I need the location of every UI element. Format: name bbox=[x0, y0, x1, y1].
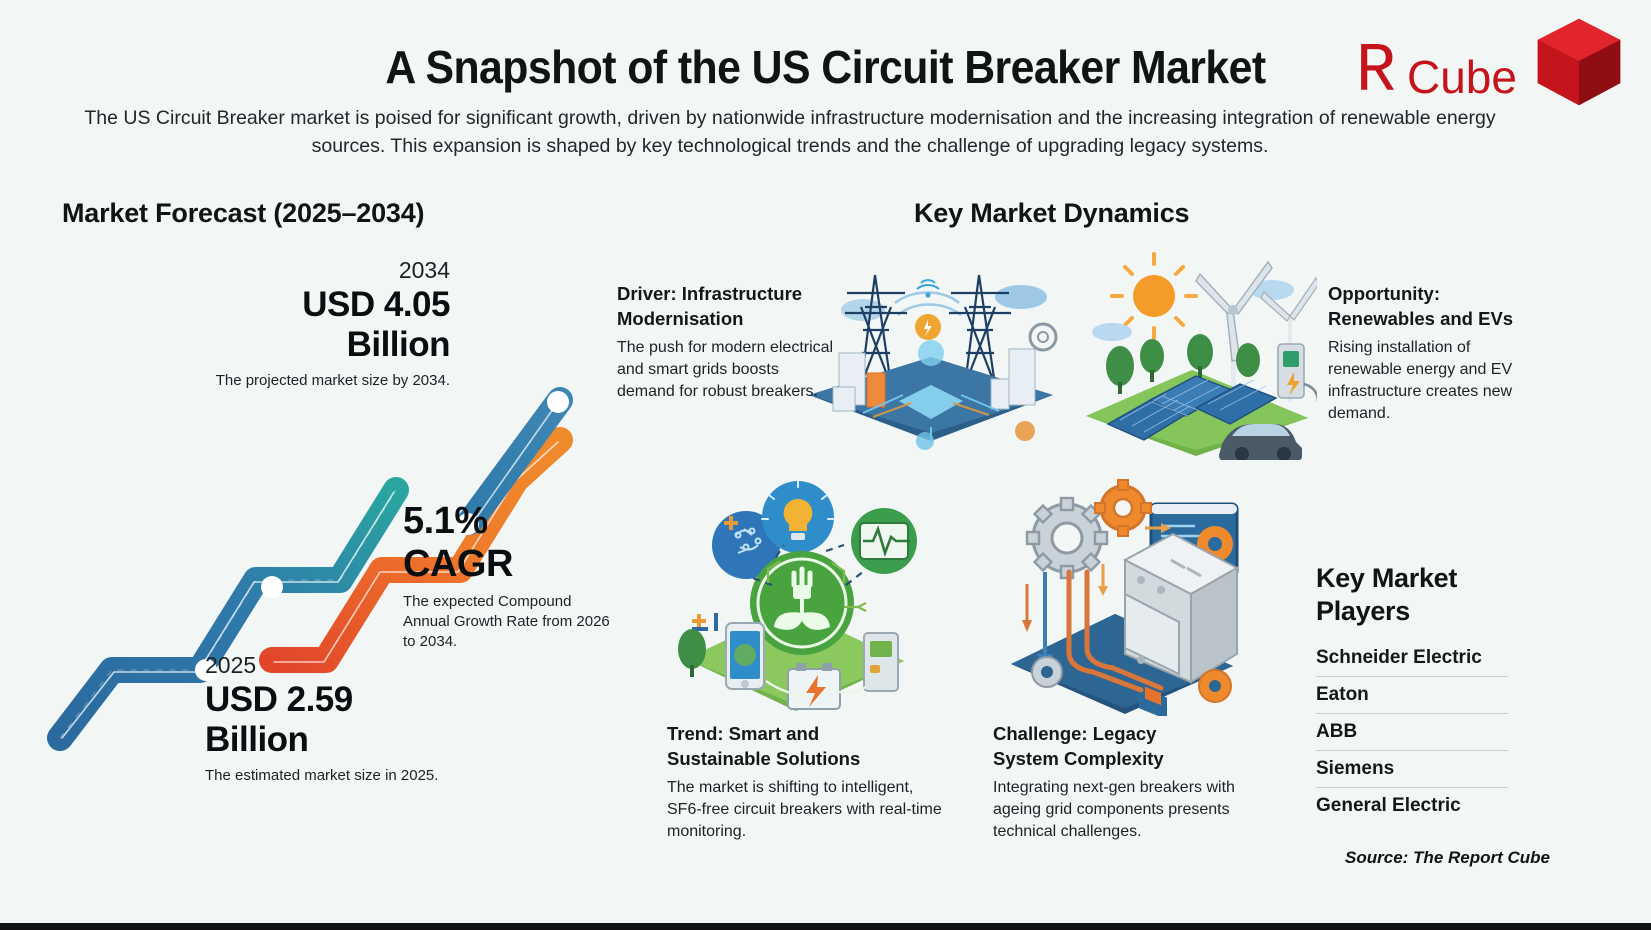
chart-node-mid-1 bbox=[261, 576, 283, 598]
players-heading-line2: Players bbox=[1316, 595, 1516, 628]
chart-node-2034 bbox=[547, 391, 569, 413]
dynamic-trend-title-line2: Sustainable Solutions bbox=[667, 746, 952, 771]
dynamic-trend-body: The market is shifting to intelligent, S… bbox=[667, 777, 952, 843]
stat-cagr: 5.1% CAGR The expected Compound Annual G… bbox=[403, 500, 613, 652]
list-item: ABB bbox=[1316, 714, 1508, 751]
stat-2025-year: 2025 bbox=[205, 650, 485, 680]
dynamic-driver-title-line1: Driver: Infrastructure bbox=[617, 281, 835, 306]
stat-2025-value-line1: USD 2.59 bbox=[205, 680, 485, 720]
dynamics-section-heading: Key Market Dynamics bbox=[914, 198, 1189, 229]
dynamic-block-trend: Trend: Smart and Sustainable Solutions T… bbox=[667, 721, 952, 843]
stat-2034-desc: The projected market size by 2034. bbox=[150, 371, 450, 391]
key-market-players: Key Market Players Schneider Electric Ea… bbox=[1316, 562, 1516, 824]
dynamic-driver-body: The push for modern electrical and smart… bbox=[617, 337, 835, 403]
stat-2034: 2034 USD 4.05 Billion The projected mark… bbox=[150, 255, 450, 391]
players-heading-line1: Key Market bbox=[1316, 562, 1516, 595]
dynamic-challenge-title-line1: Challenge: Legacy bbox=[993, 721, 1243, 746]
logo-wordmark: Cube bbox=[1407, 50, 1517, 104]
dynamic-opportunity-title-line1: Opportunity: bbox=[1328, 281, 1546, 306]
dynamic-challenge-title-line2: System Complexity bbox=[993, 746, 1243, 771]
dynamic-opportunity-body: Rising installation of renewable energy … bbox=[1328, 337, 1546, 425]
cube-icon bbox=[1531, 14, 1627, 110]
stat-2034-year: 2034 bbox=[150, 255, 450, 285]
source-attribution: Source: The Report Cube bbox=[1100, 848, 1550, 868]
dynamic-block-opportunity: Opportunity: Renewables and EVs Rising i… bbox=[1328, 281, 1546, 425]
dynamic-block-challenge: Challenge: Legacy System Complexity Inte… bbox=[993, 721, 1243, 843]
stat-cagr-label: CAGR bbox=[403, 543, 613, 586]
brand-logo: Я Cube bbox=[1355, 14, 1640, 106]
renewable-energy-illustration bbox=[1072, 248, 1317, 460]
players-list: Schneider Electric Eaton ABB Siemens Gen… bbox=[1316, 640, 1508, 824]
list-item: Schneider Electric bbox=[1316, 640, 1508, 677]
dynamic-challenge-body: Integrating next-gen breakers with agein… bbox=[993, 777, 1243, 843]
legacy-breaker-illustration bbox=[975, 468, 1240, 716]
dynamic-driver-title-line2: Modernisation bbox=[617, 306, 835, 331]
list-item: Eaton bbox=[1316, 677, 1508, 714]
logo-reversed-r-glyph: Я bbox=[1355, 32, 1398, 105]
list-item: General Electric bbox=[1316, 788, 1508, 824]
stat-2034-value-line2: Billion bbox=[150, 325, 450, 365]
stat-2034-value-line1: USD 4.05 bbox=[150, 285, 450, 325]
stat-2025-desc: The estimated market size in 2025. bbox=[205, 766, 485, 786]
dynamic-block-driver: Driver: Infrastructure Modernisation The… bbox=[617, 281, 835, 403]
stat-cagr-desc: The expected Compound Annual Growth Rate… bbox=[403, 592, 613, 652]
stat-cagr-value: 5.1% bbox=[403, 500, 613, 543]
smart-sustainable-illustration bbox=[668, 473, 918, 718]
list-item: Siemens bbox=[1316, 751, 1508, 788]
forecast-section-heading: Market Forecast (2025–2034) bbox=[62, 198, 424, 229]
dynamic-trend-title-line1: Trend: Smart and bbox=[667, 721, 952, 746]
stat-2025: 2025 USD 2.59 Billion The estimated mark… bbox=[205, 650, 485, 786]
stat-2025-value-line2: Billion bbox=[205, 720, 485, 760]
infographic-page: A Snapshot of the US Circuit Breaker Mar… bbox=[0, 0, 1651, 930]
page-subtitle: The US Circuit Breaker market is poised … bbox=[55, 104, 1525, 160]
dynamic-opportunity-title-line2: Renewables and EVs bbox=[1328, 306, 1546, 331]
power-grid-illustration bbox=[803, 245, 1058, 457]
